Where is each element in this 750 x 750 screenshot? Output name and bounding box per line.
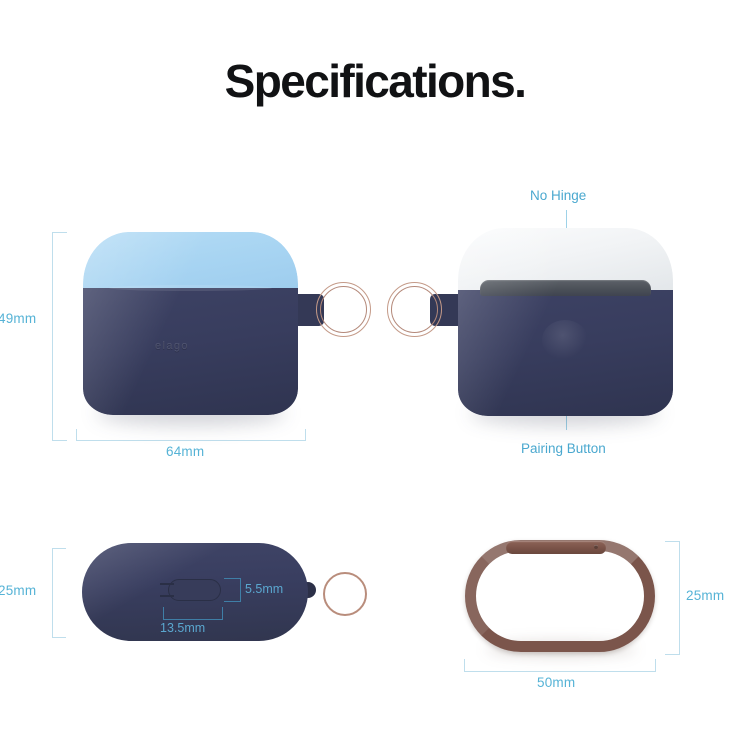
specifications-page: Specifications. 49mm 64mm elago No Hinge [0,0,750,750]
case-cap-blue [83,232,298,288]
dimension-line-port-width-13-5mm [163,607,223,620]
carabiner-highlight [465,540,655,652]
carabiner-screw [594,545,598,549]
keyring-bottom-view [323,572,367,616]
dimension-label-width-64mm: 64mm [166,444,204,459]
airpods-case-blue: elago [83,232,298,415]
dimension-line-carabiner-width-50mm [464,659,656,672]
dimension-line-port-height-5-5mm [224,578,241,602]
lid-opening-no-hinge [480,280,651,296]
dimension-label-port-height-5-5mm: 5.5mm [245,582,283,596]
page-title: Specifications. [0,58,750,104]
brand-logo: elago [155,340,189,352]
dimension-label-depth-25mm: 25mm [0,583,36,598]
dimension-line-height-49mm [52,232,67,441]
airpods-case-white [458,228,673,416]
keyring-inner-white [391,286,438,333]
dimension-label-height-49mm: 49mm [0,311,36,326]
dimension-label-carabiner-height-25mm: 25mm [686,588,724,603]
dimension-line-width-64mm [76,429,306,441]
case-seam [109,285,272,291]
charging-port-notch-top [160,583,174,585]
callout-no-hinge: No Hinge [530,188,586,203]
dimension-line-carabiner-height-25mm [665,541,680,655]
dimension-label-carabiner-width-50mm: 50mm [537,675,575,690]
pairing-button-dimple [542,320,588,360]
callout-pairing-button: Pairing Button [521,441,606,456]
dimension-line-depth-25mm [52,548,66,638]
carabiner-gate [506,541,606,554]
keyring-inner-blue [320,286,367,333]
charging-port-notch-bottom [160,595,174,597]
carabiner-ring [465,540,655,652]
dimension-label-port-width-13-5mm: 13.5mm [160,621,205,635]
charging-port [168,579,221,601]
case-body-navy [83,285,298,415]
